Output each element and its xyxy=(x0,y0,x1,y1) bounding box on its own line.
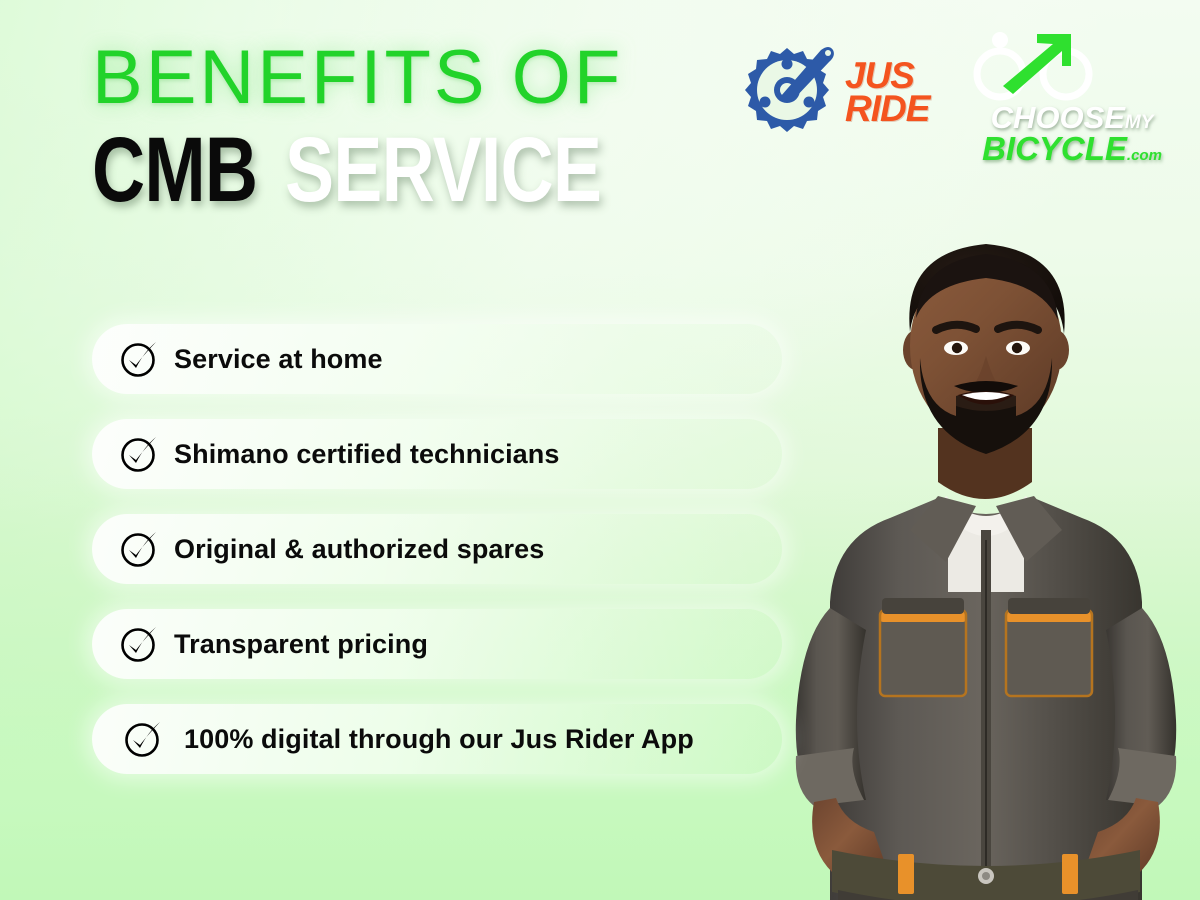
benefit-item[interactable]: Transparent pricing xyxy=(92,609,782,679)
cmb-word-dotcom: .com xyxy=(1127,147,1162,164)
benefit-item[interactable]: Shimano certified technicians xyxy=(92,419,782,489)
benefit-label: Service at home xyxy=(174,344,383,375)
benefit-item[interactable]: Service at home xyxy=(92,324,782,394)
jusride-line-2: RIDE xyxy=(845,93,929,126)
headline-word-service: SERVICE xyxy=(285,124,601,216)
chainring-crank-icon xyxy=(735,38,839,147)
cmb-wordmark-row-2: BICYCLE.com xyxy=(967,133,1177,165)
check-circle-icon xyxy=(122,718,164,760)
choosemybicycle-wordmark: CHOOSEMY BICYCLE.com xyxy=(967,103,1177,164)
benefit-label: Original & authorized spares xyxy=(174,534,544,565)
cmb-word-bicycle: BICYCLE xyxy=(982,130,1127,167)
check-circle-icon xyxy=(118,528,160,570)
choosemybicycle-logo[interactable]: CHOOSEMY BICYCLE.com xyxy=(967,30,1177,164)
jusride-logo[interactable]: JUS RIDE xyxy=(735,38,929,147)
check-circle-icon xyxy=(118,623,160,665)
jusride-wordmark: JUS RIDE xyxy=(845,60,929,125)
benefit-item[interactable]: 100% digital through our Jus Rider App xyxy=(92,704,782,774)
cmb-wordmark-row-1: CHOOSEMY xyxy=(967,103,1177,133)
bicycle-arrow-icon xyxy=(967,30,1177,107)
logo-bar: JUS RIDE CHOOSEMY xyxy=(735,30,1175,160)
benefit-label: Transparent pricing xyxy=(174,629,428,660)
benefit-label: 100% digital through our Jus Rider App xyxy=(184,724,694,755)
benefits-list: Service at home Shimano certified techni… xyxy=(92,324,782,774)
headline-line-benefits-of: BENEFITS OF xyxy=(92,42,732,114)
cmb-word-my: MY xyxy=(1125,112,1154,133)
technician-photo xyxy=(770,200,1200,900)
headline-brand-cmb: CMB xyxy=(92,124,257,216)
check-circle-icon xyxy=(118,338,160,380)
benefit-label: Shimano certified technicians xyxy=(174,439,560,470)
headline-line-cmb-service: CMBSERVICE xyxy=(92,124,732,216)
headline-block: BENEFITS OF CMBSERVICE xyxy=(92,42,732,216)
poster-canvas: BENEFITS OF CMBSERVICE xyxy=(0,0,1200,900)
benefit-item[interactable]: Original & authorized spares xyxy=(92,514,782,584)
check-circle-icon xyxy=(118,433,160,475)
